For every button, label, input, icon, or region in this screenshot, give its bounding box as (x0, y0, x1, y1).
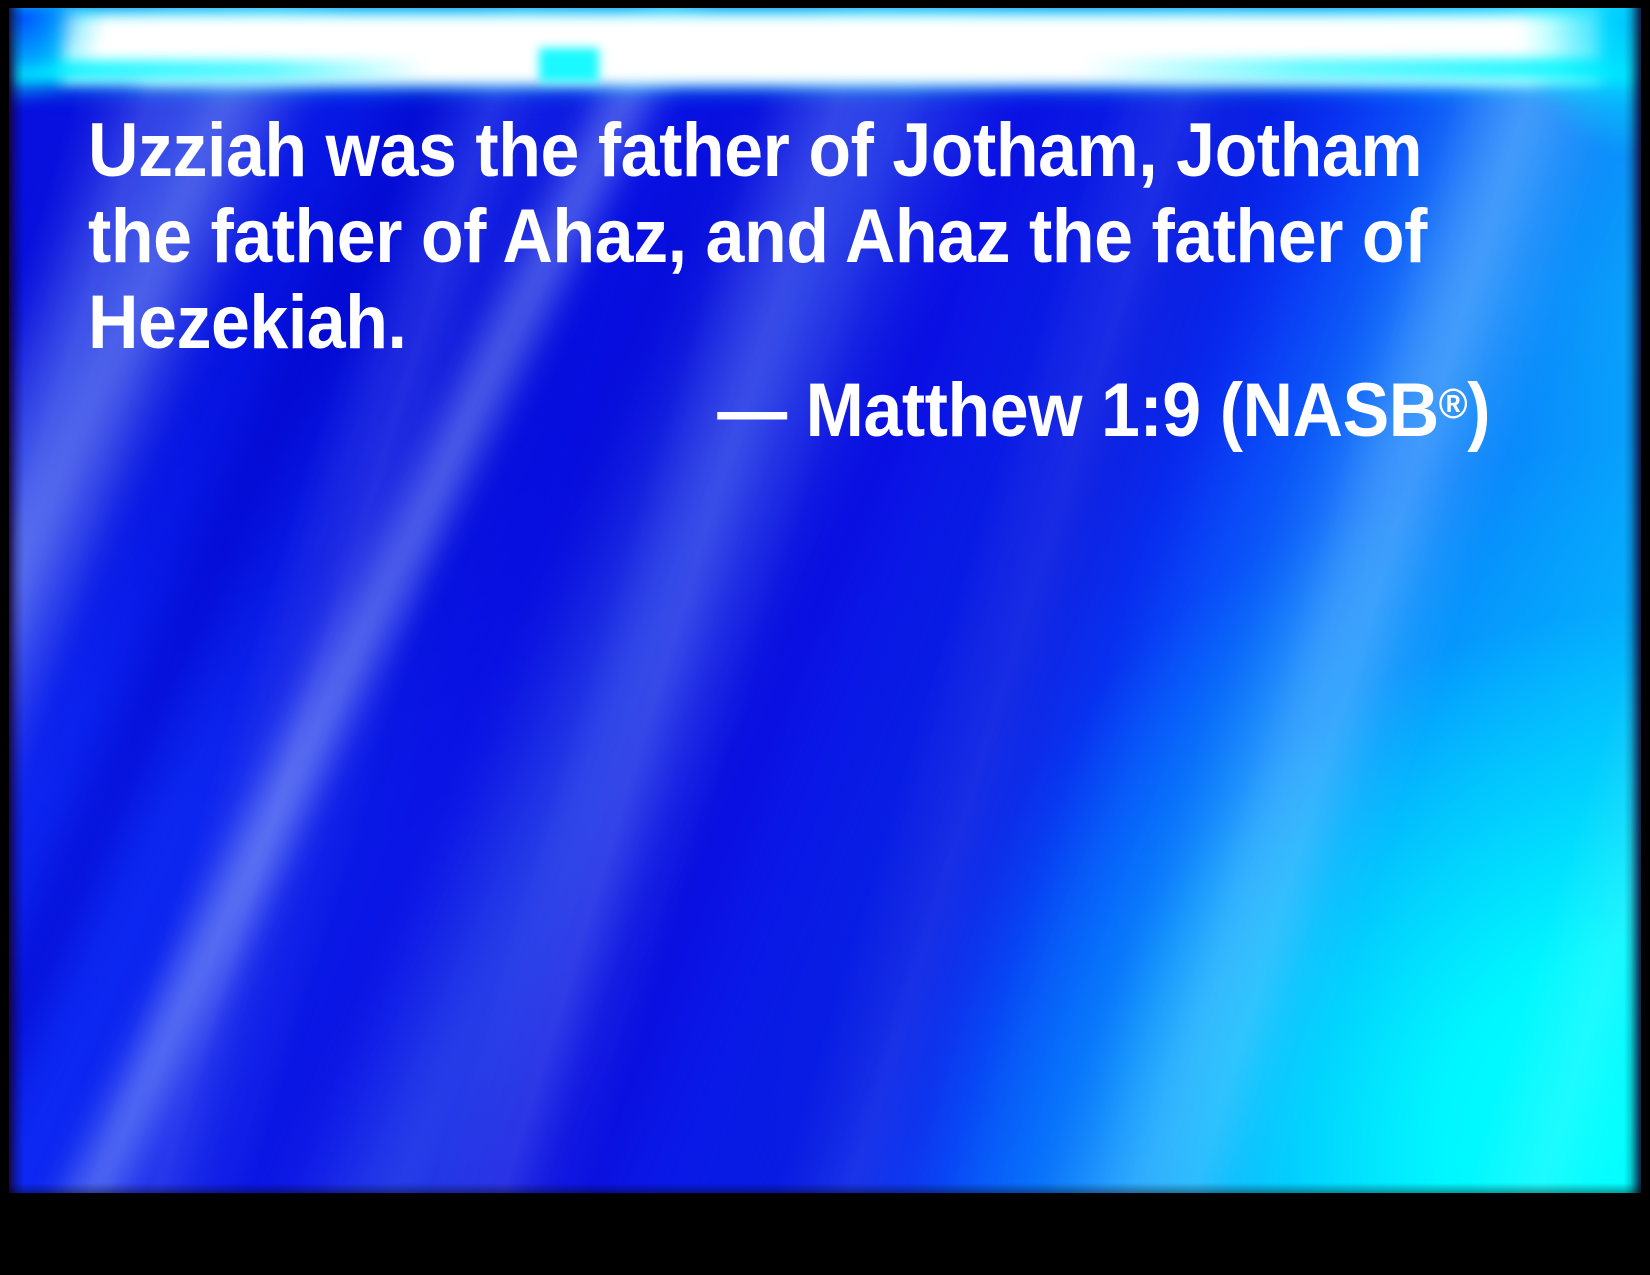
frame-border-right (1641, 0, 1650, 1275)
verse-line-1: Uzziah was the father of Jotham, Jotham (88, 108, 1385, 194)
frame-border-top (0, 0, 1650, 8)
bible-verse-slide: Uzziah was the father of Jotham, Jotham … (0, 0, 1650, 1275)
verse-attribution: — Matthew 1:9 (NASB®) (88, 368, 1490, 454)
frame-border-left (0, 0, 9, 1275)
verse-line-3: Hezekiah. (88, 280, 1385, 366)
attribution-prefix: — Matthew 1:9 (NASB (717, 368, 1439, 453)
frame-border-bottom (0, 1193, 1650, 1275)
verse-text-block: Uzziah was the father of Jotham, Jotham … (88, 108, 1498, 366)
verse-line-2: the father of Ahaz, and Ahaz the father … (88, 194, 1385, 280)
attribution-suffix: ) (1467, 368, 1490, 453)
top-glow-cyan-notch (539, 48, 599, 82)
attribution-text: — Matthew 1:9 (NASB®) (717, 368, 1490, 454)
top-light-glow (9, 8, 1641, 118)
registered-trademark-icon: ® (1439, 380, 1467, 428)
